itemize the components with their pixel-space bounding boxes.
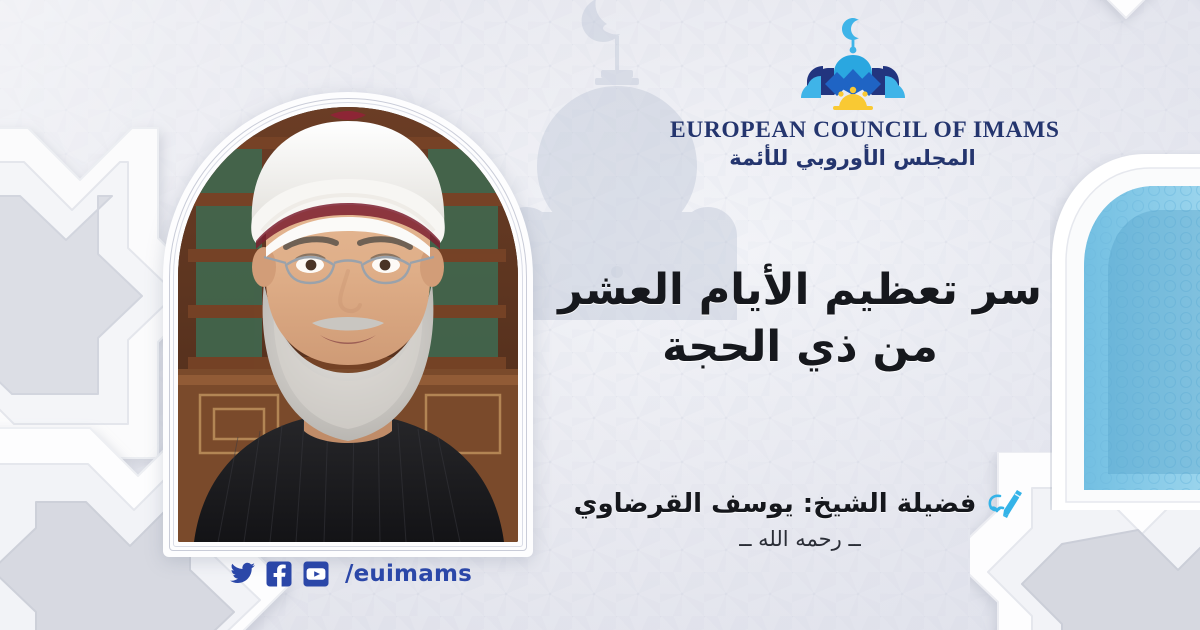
lecture-title-line-2: من ذي الحجة xyxy=(545,319,1055,376)
mosque-dome-crescent-logo-icon xyxy=(793,14,913,112)
signature-pen-icon xyxy=(986,487,1026,521)
social-handle[interactable]: /euimams xyxy=(345,561,472,587)
speaker-honorific: ــ رحمه الله ــ xyxy=(545,527,1055,551)
lecture-title-line-1: سر تعظيم الأيام العشر xyxy=(545,262,1055,319)
speaker-name-row: فضيلة الشيخ: يوسف القرضاوي xyxy=(545,487,1055,521)
portrait-card xyxy=(163,92,533,557)
logo-arabic-name: المجلس الأوروبي للأئمة xyxy=(670,146,1035,170)
speaker-name: فضيلة الشيخ: يوسف القرضاوي xyxy=(574,489,977,519)
organization-logo: EUROPEAN COUNCIL OF IMAMS المجلس الأوروب… xyxy=(670,14,1035,170)
facebook-f-icon[interactable] xyxy=(265,560,293,588)
twitter-bird-icon[interactable] xyxy=(228,560,256,588)
social-bar[interactable]: /euimams xyxy=(228,560,472,588)
lecture-card: EUROPEAN COUNCIL OF IMAMS المجلس الأوروب… xyxy=(0,0,1200,630)
speaker-portrait-photo xyxy=(178,107,518,542)
blue-mihrab-arch xyxy=(1050,150,1200,510)
lecture-title: سر تعظيم الأيام العشر من ذي الحجة xyxy=(545,262,1055,376)
speaker-block: فضيلة الشيخ: يوسف القرضاوي ــ رحمه الله … xyxy=(545,487,1055,551)
logo-english-name: EUROPEAN COUNCIL OF IMAMS xyxy=(670,117,1035,144)
youtube-play-icon[interactable] xyxy=(302,560,330,588)
